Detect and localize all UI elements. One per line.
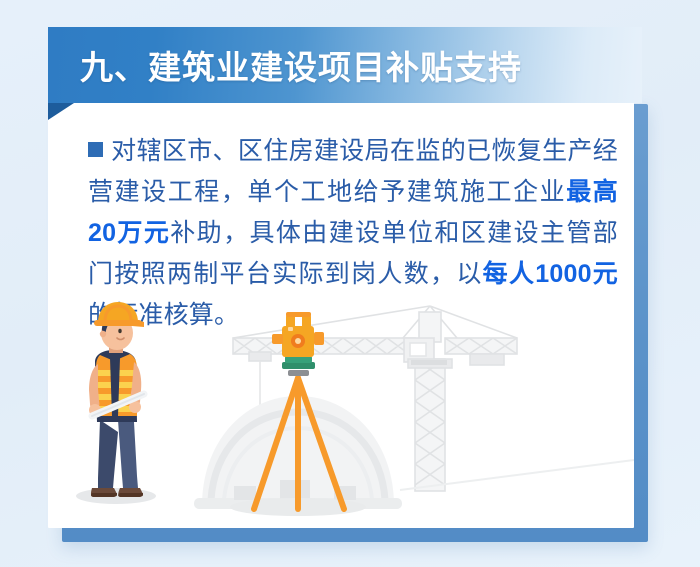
infographic-slide: 九、建筑业建设项目补贴支持 对辖区市、区住房建设局在监的已恢复生产经营建设工程，…	[0, 0, 700, 567]
ribbon-fold-corner	[48, 103, 74, 120]
construction-site-illustration	[48, 300, 634, 528]
title-ribbon: 九、建筑业建设项目补贴支持	[48, 27, 642, 103]
body-highlight-per-person: 每人1000元	[483, 260, 618, 288]
construction-worker-icon	[89, 302, 144, 497]
body-segment-0: 对辖区市、区住房建设局在监的已恢复生产经营建设工程，单个工地给予建筑施工企业	[88, 137, 618, 206]
square-bullet-icon	[88, 142, 103, 157]
page-title: 九、建筑业建设项目补贴支持	[80, 27, 522, 103]
